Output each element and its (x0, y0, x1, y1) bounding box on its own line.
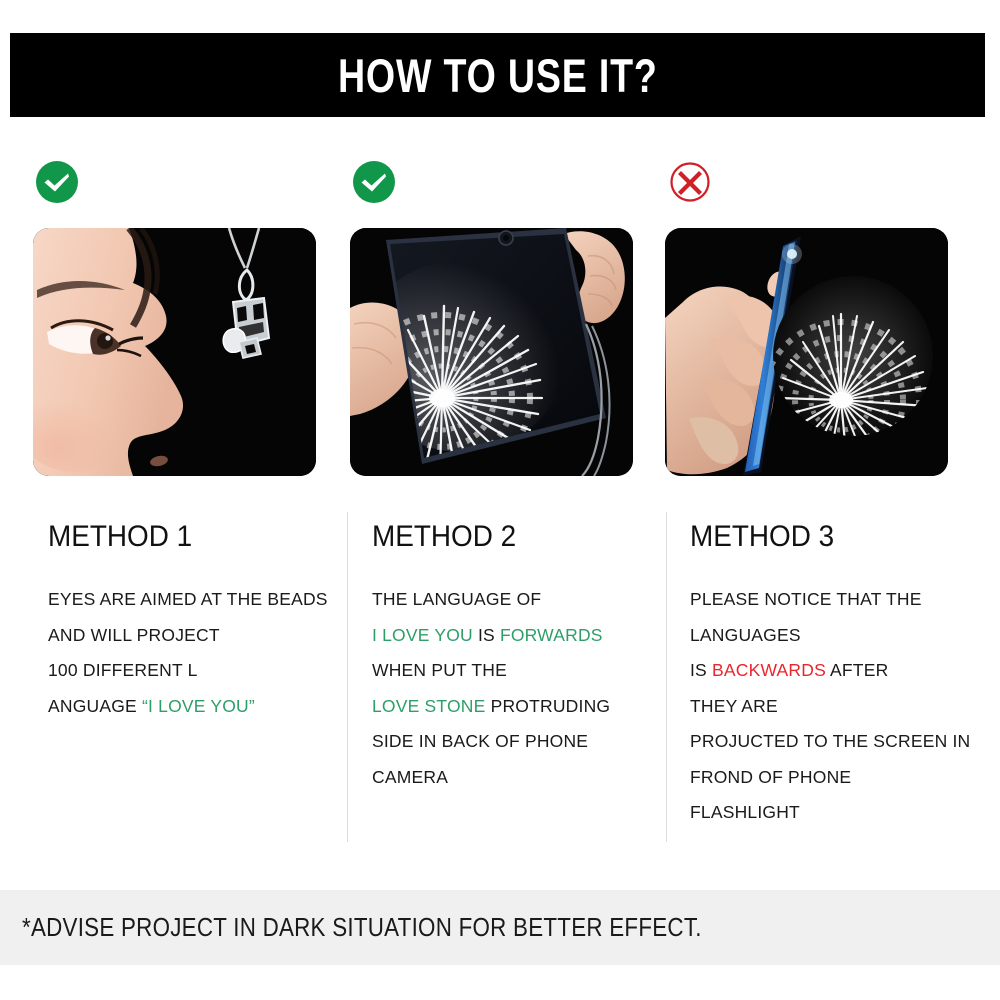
header-bar: HOW TO USE IT? (10, 33, 985, 117)
plain-text: EYES ARE AIMED AT THE BEADS (48, 589, 328, 609)
method-text-line: I LOVE YOU IS FORWARDS (372, 618, 657, 654)
plain-text: LANGUAGES (690, 625, 801, 645)
method-text-line: IS BACKWARDS AFTER (690, 653, 980, 689)
method-3-body: PLEASE NOTICE THAT THELANGUAGESIS BACKWA… (690, 582, 980, 831)
check-circle-icon (352, 160, 396, 204)
check-circle-icon (35, 160, 79, 204)
method-text-line: PLEASE NOTICE THAT THE (690, 582, 980, 618)
method-text-line: FLASHLIGHT (690, 795, 980, 831)
highlight-green-text: “I LOVE YOU” (142, 696, 255, 716)
method-text-line: LOVE STONE PROTRUDING (372, 689, 657, 725)
method-text-line: ANGUAGE “I LOVE YOU” (48, 689, 338, 725)
footer-note: *ADVISE PROJECT IN DARK SITUATION FOR BE… (22, 912, 702, 943)
page-title: HOW TO USE IT? (338, 52, 658, 99)
plain-text: THE LANGUAGE OF (372, 589, 541, 609)
method-text-line: SIDE IN BACK OF PHONE (372, 724, 657, 760)
method-text-line: THE LANGUAGE OF (372, 582, 657, 618)
plain-text: IS (473, 625, 500, 645)
method-text-line: LANGUAGES (690, 618, 980, 654)
method-text-line: CAMERA (372, 760, 657, 796)
method-text-line: AND WILL PROJECT (48, 618, 338, 654)
method-text-line: 100 DIFFERENT L (48, 653, 338, 689)
method-block-3: METHOD 3 PLEASE NOTICE THAT THELANGUAGES… (690, 522, 980, 831)
method-text-line: THEY ARE (690, 689, 980, 725)
method-text-line: PROJUCTED TO THE SCREEN IN (690, 724, 980, 760)
status-badge-method-2 (352, 160, 396, 204)
method-block-2: METHOD 2 THE LANGUAGE OFI LOVE YOU IS FO… (372, 522, 657, 795)
method-1-title: METHOD 1 (48, 522, 318, 552)
method-text-line: FROND OF PHONE (690, 760, 980, 796)
plain-text: PROTRUDING (486, 696, 611, 716)
column-divider-1 (347, 512, 348, 842)
method-3-title: METHOD 3 (690, 522, 960, 552)
plain-text: FROND OF PHONE (690, 767, 851, 787)
footer-band: *ADVISE PROJECT IN DARK SITUATION FOR BE… (0, 890, 1000, 965)
phone-screen-projection-illustration (350, 228, 633, 476)
plain-text: SIDE IN BACK OF PHONE (372, 731, 588, 751)
method-2-title: METHOD 2 (372, 522, 637, 552)
photo-face-with-pendant (33, 228, 316, 476)
photo-phone-screen-projection (350, 228, 633, 476)
plain-text: CAMERA (372, 767, 448, 787)
face-pendant-illustration (33, 228, 316, 476)
photo-phone-flashlight-projection (665, 228, 948, 476)
highlight-green-text: FORWARDS (500, 625, 603, 645)
plain-text: AND WILL PROJECT (48, 625, 220, 645)
highlight-green-text: I LOVE YOU (372, 625, 473, 645)
plain-text: THEY ARE (690, 696, 778, 716)
cross-circle-icon (668, 160, 712, 204)
method-block-1: METHOD 1 EYES ARE AIMED AT THE BEADSAND … (48, 522, 338, 724)
highlight-green-text: LOVE STONE (372, 696, 486, 716)
plain-text: AFTER (826, 660, 888, 680)
plain-text: IS (690, 660, 712, 680)
plain-text: PLEASE NOTICE THAT THE (690, 589, 922, 609)
highlight-red-text: BACKWARDS (712, 660, 826, 680)
status-badge-row (0, 160, 1000, 208)
plain-text: FLASHLIGHT (690, 802, 800, 822)
status-badge-method-3 (668, 160, 712, 204)
plain-text: 100 DIFFERENT L (48, 660, 198, 680)
phone-flashlight-projection-illustration (665, 228, 948, 476)
method-text-line: WHEN PUT THE (372, 653, 657, 689)
method-2-body: THE LANGUAGE OFI LOVE YOU IS FORWARDSWHE… (372, 582, 657, 795)
plain-text: WHEN PUT THE (372, 660, 507, 680)
plain-text: ANGUAGE (48, 696, 142, 716)
method-text-line: EYES ARE AIMED AT THE BEADS (48, 582, 338, 618)
plain-text: PROJUCTED TO THE SCREEN IN (690, 731, 970, 751)
method-1-body: EYES ARE AIMED AT THE BEADSAND WILL PROJ… (48, 582, 338, 724)
status-badge-method-1 (35, 160, 79, 204)
column-divider-2 (666, 512, 667, 842)
